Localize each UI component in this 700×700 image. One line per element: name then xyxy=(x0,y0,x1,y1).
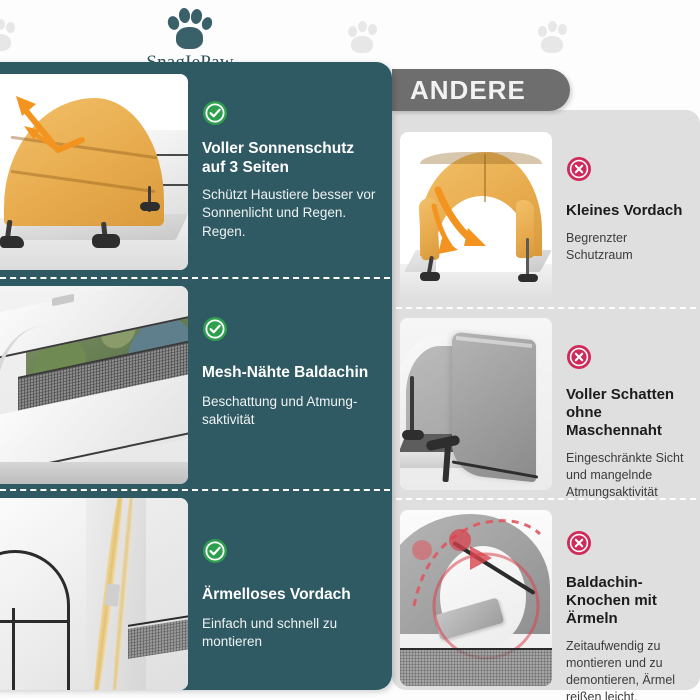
brand-feature-image xyxy=(0,286,188,484)
cross-circle-icon xyxy=(566,156,592,182)
competitor-feature-image xyxy=(400,132,552,298)
competitor-feature-title: Baldachin-Knochen mit Ärmeln xyxy=(566,574,692,628)
competitor-badge-label: ANDERE xyxy=(392,75,526,106)
brand-feature-image xyxy=(0,74,188,270)
brand-feature-row: Ärmelloses Vordach Einfach und schnell z… xyxy=(0,498,392,690)
competitor-badge: ANDERE xyxy=(392,69,570,111)
competitor-feature-image xyxy=(400,318,552,490)
paw-watermark-icon xyxy=(538,20,572,54)
competitor-feature-row: Kleines Vordach Begrenzter Schutzraum xyxy=(400,132,696,298)
competitor-feature-description: Eingeschränkte Sicht und mangelnde Atmun… xyxy=(566,450,692,501)
paw-watermark-icon xyxy=(0,18,20,52)
brand-feature-text: Mesh-Nähte Baldachin Beschattung und Atm… xyxy=(188,286,392,484)
comparison-infographic: SnagIePaw ANDERE xyxy=(0,0,700,700)
brand-feature-text: Voller Sonnenschutz auf 3 Seiten Schützt… xyxy=(188,74,392,270)
paw-watermark-icon xyxy=(348,20,382,54)
brand-feature-title: Voller Sonnenschutz auf 3 Seiten xyxy=(202,140,378,177)
section-divider xyxy=(396,498,696,500)
brand-feature-title: Ärmelloses Vordach xyxy=(202,586,378,605)
competitor-feature-description: Zeitaufwendig zu montieren und zu demont… xyxy=(566,638,692,700)
competitor-feature-title: Kleines Vordach xyxy=(566,202,690,220)
brand-feature-title: Mesh-Nähte Baldachin xyxy=(202,364,378,383)
paw-print-icon xyxy=(167,6,213,50)
competitor-feature-text: Voller Schatten ohne Maschennaht Eingesc… xyxy=(552,318,696,490)
competitor-feature-row: Voller Schatten ohne Maschennaht Eingesc… xyxy=(400,318,696,490)
cross-circle-icon xyxy=(566,530,592,556)
competitor-feature-row: Baldachin-Knochen mit Ärmeln Zeitaufwend… xyxy=(400,510,696,686)
competitor-feature-image xyxy=(400,510,552,686)
brand-feature-row: Voller Sonnenschutz auf 3 Seiten Schützt… xyxy=(0,74,392,270)
brand-feature-description: Beschattung und Atmung-saktivität xyxy=(202,393,378,429)
cross-circle-icon xyxy=(566,344,592,370)
competitor-feature-description: Begrenzter Schutzraum xyxy=(566,230,690,264)
brand-feature-description: Einfach und schnell zu montieren xyxy=(202,615,378,651)
section-divider xyxy=(396,307,696,309)
competitor-feature-text: Baldachin-Knochen mit Ärmeln Zeitaufwend… xyxy=(552,510,696,686)
section-divider xyxy=(0,277,390,279)
competitor-feature-title: Voller Schatten ohne Maschennaht xyxy=(566,386,692,440)
brand-feature-text: Ärmelloses Vordach Einfach und schnell z… xyxy=(188,498,392,690)
brand-feature-description: Schützt Haustiere besser vor Sonnenlicht… xyxy=(202,186,378,241)
sun-protection-arrow-icon xyxy=(6,88,96,166)
check-circle-icon xyxy=(202,100,228,126)
competitor-feature-text: Kleines Vordach Begrenzter Schutzraum xyxy=(552,132,696,298)
check-circle-icon xyxy=(202,316,228,342)
brand-feature-row: Mesh-Nähte Baldachin Beschattung und Atm… xyxy=(0,286,392,484)
brand-feature-image xyxy=(0,498,188,690)
section-divider xyxy=(0,489,390,491)
check-circle-icon xyxy=(202,538,228,564)
limited-coverage-arrow-icon xyxy=(424,184,510,262)
